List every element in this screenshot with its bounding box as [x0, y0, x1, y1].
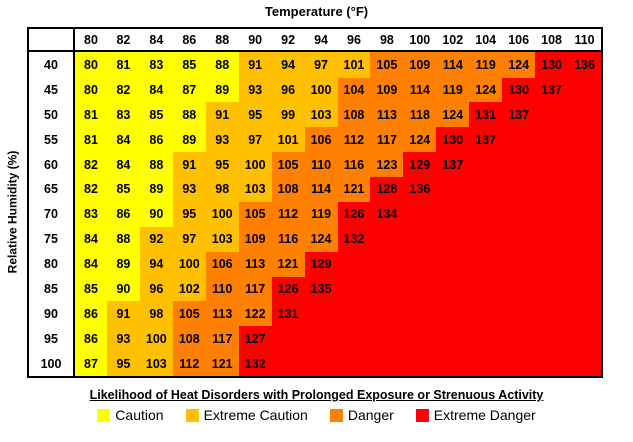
- heat-index-cell: 93: [206, 127, 239, 152]
- heat-index-cell: 119: [469, 51, 502, 78]
- legend: Likelihood of Heat Disorders with Prolon…: [0, 388, 633, 423]
- heat-index-cell: 103: [305, 102, 338, 127]
- heat-index-cell: [568, 102, 601, 127]
- heat-index-cell: 93: [107, 326, 140, 351]
- heat-index-cell: 97: [173, 227, 206, 252]
- column-header-temp-98: 98: [370, 29, 403, 51]
- heat-index-cell: 105: [173, 301, 206, 326]
- heat-index-cell: 116: [338, 152, 371, 177]
- column-header-temp-92: 92: [272, 29, 305, 51]
- heat-index-cell: [469, 326, 502, 351]
- heat-index-cell: 102: [173, 277, 206, 302]
- heat-index-cell: 96: [272, 78, 305, 103]
- heat-index-cell: 86: [107, 202, 140, 227]
- heat-index-cell: 106: [305, 127, 338, 152]
- heat-index-cell: 91: [107, 301, 140, 326]
- column-header-temp-106: 106: [502, 29, 535, 51]
- heat-index-cell: [535, 252, 568, 277]
- heat-index-cell: [436, 252, 469, 277]
- heat-index-cell: 110: [206, 277, 239, 302]
- heat-index-cell: [568, 202, 601, 227]
- heat-index-cell: 81: [74, 102, 107, 127]
- heat-index-cell: [403, 301, 436, 326]
- column-header-temp-94: 94: [305, 29, 338, 51]
- heat-index-cell: 113: [370, 102, 403, 127]
- table-row: 1008795103112121132: [29, 351, 601, 376]
- heat-index-cell: 117: [370, 127, 403, 152]
- heat-index-cell: 136: [403, 177, 436, 202]
- heat-index-cell: 123: [370, 152, 403, 177]
- table-row: 7083869095100105112119126134: [29, 202, 601, 227]
- heat-index-cell: [502, 351, 535, 376]
- heat-index-cell: 124: [502, 51, 535, 78]
- heat-index-cell: 86: [74, 301, 107, 326]
- heat-index-cell: 100: [239, 152, 272, 177]
- heat-index-cell: 99: [272, 102, 305, 127]
- heat-index-cell: 94: [140, 252, 173, 277]
- heat-index-cell: [436, 277, 469, 302]
- heat-index-cell: 130: [535, 51, 568, 78]
- heat-index-cell: 86: [140, 127, 173, 152]
- heat-index-cell: [469, 301, 502, 326]
- table-row: 4080818385889194971011051091141191241301…: [29, 51, 601, 78]
- heat-index-cell: 130: [436, 127, 469, 152]
- row-header-humidity-60: 60: [29, 152, 74, 177]
- heat-index-cell: [568, 177, 601, 202]
- heat-index-cell: [535, 227, 568, 252]
- heat-index-cell: 80: [74, 51, 107, 78]
- heat-index-cell: [370, 326, 403, 351]
- row-header-humidity-55: 55: [29, 127, 74, 152]
- heat-index-cell: 82: [74, 177, 107, 202]
- heat-index-cell: [502, 252, 535, 277]
- heat-index-cell: [568, 78, 601, 103]
- heat-index-cell: [469, 152, 502, 177]
- legend-item-extreme-caution: Extreme Caution: [186, 407, 308, 423]
- heat-index-cell: 87: [173, 78, 206, 103]
- heat-index-cell: 80: [74, 78, 107, 103]
- legend-swatch-danger-icon: [330, 409, 343, 422]
- heat-index-cell: 89: [206, 78, 239, 103]
- row-header-humidity-100: 100: [29, 351, 74, 376]
- heat-index-cell: 98: [206, 177, 239, 202]
- heat-index-cell: [338, 326, 371, 351]
- heat-index-cell: 93: [239, 78, 272, 103]
- legend-swatch-caution-icon: [97, 409, 110, 422]
- heat-index-cell: [568, 277, 601, 302]
- heat-index-cell: 108: [338, 102, 371, 127]
- table-body: 4080818385889194971011051091141191241301…: [29, 51, 601, 376]
- heat-index-cell: [436, 326, 469, 351]
- heat-index-cell: 91: [173, 152, 206, 177]
- heat-index-cell: [436, 227, 469, 252]
- heat-index-cell: 84: [74, 227, 107, 252]
- heat-index-cell: [535, 102, 568, 127]
- y-axis-label-text: Relative Humidity (%): [5, 151, 19, 274]
- row-header-humidity-85: 85: [29, 277, 74, 302]
- heat-index-cell: 119: [305, 202, 338, 227]
- column-header-temp-82: 82: [107, 29, 140, 51]
- heat-index-cell: 87: [74, 351, 107, 376]
- heat-index-cell: 91: [239, 51, 272, 78]
- heat-index-cell: 124: [436, 102, 469, 127]
- heat-index-cell: [272, 351, 305, 376]
- heat-index-cell: 81: [107, 51, 140, 78]
- heat-index-table: 80828486889092949698100102104106108110 4…: [27, 27, 603, 378]
- heat-index-cell: 124: [469, 78, 502, 103]
- heat-index-cell: 97: [239, 127, 272, 152]
- heat-index-cell: 135: [305, 277, 338, 302]
- heat-index-cell: 98: [140, 301, 173, 326]
- heat-index-cell: [370, 301, 403, 326]
- heat-index-cell: [338, 351, 371, 376]
- heat-index-cell: 136: [568, 51, 601, 78]
- heat-index-cell: 121: [272, 252, 305, 277]
- heat-index-cell: 83: [74, 202, 107, 227]
- legend-label: Caution: [115, 407, 163, 423]
- heat-index-cell: 109: [370, 78, 403, 103]
- table-row: 90869198105113122131: [29, 301, 601, 326]
- heat-index-cell: [535, 127, 568, 152]
- heat-index-cell: 101: [272, 127, 305, 152]
- heat-index-cell: [469, 227, 502, 252]
- heat-index-cell: 100: [206, 202, 239, 227]
- y-axis-label: Relative Humidity (%): [0, 46, 24, 378]
- heat-index-cell: 114: [403, 78, 436, 103]
- heat-index-cell: [469, 252, 502, 277]
- heat-index-cell: [370, 351, 403, 376]
- heat-index-cell: [469, 177, 502, 202]
- column-header-temp-84: 84: [140, 29, 173, 51]
- heat-index-cell: 101: [338, 51, 371, 78]
- chart-title: Temperature (°F): [0, 4, 633, 19]
- table-row: 658285899398103108114121128136: [29, 177, 601, 202]
- heat-index-cell: [272, 326, 305, 351]
- heat-index-cell: 114: [305, 177, 338, 202]
- heat-index-cell: 91: [206, 102, 239, 127]
- heat-index-cell: [338, 301, 371, 326]
- heat-index-cell: 132: [338, 227, 371, 252]
- heat-index-cell: [535, 351, 568, 376]
- heat-index-cell: [403, 351, 436, 376]
- heat-index-cell: 88: [140, 152, 173, 177]
- legend-title: Likelihood of Heat Disorders with Prolon…: [0, 388, 633, 402]
- row-header-humidity-50: 50: [29, 102, 74, 127]
- heat-index-cell: [568, 326, 601, 351]
- heat-index-cell: [568, 301, 601, 326]
- legend-swatch-extreme-danger-icon: [416, 409, 429, 422]
- heat-index-cell: 131: [469, 102, 502, 127]
- heat-index-cell: 127: [239, 326, 272, 351]
- heat-index-cell: [305, 301, 338, 326]
- row-header-humidity-65: 65: [29, 177, 74, 202]
- heat-index-cell: 83: [140, 51, 173, 78]
- table-row: 608284889195100105110116123129137: [29, 152, 601, 177]
- heat-index-cell: 105: [272, 152, 305, 177]
- heat-index-cell: [502, 301, 535, 326]
- heat-index-cell: 137: [502, 102, 535, 127]
- heat-index-cell: 95: [239, 102, 272, 127]
- column-header-temp-100: 100: [403, 29, 436, 51]
- heat-index-cell: 85: [173, 51, 206, 78]
- heat-index-cell: 112: [338, 127, 371, 152]
- heat-index-cell: 105: [239, 202, 272, 227]
- heat-index-cell: 118: [403, 102, 436, 127]
- heat-index-cell: [535, 152, 568, 177]
- column-header-temp-88: 88: [206, 29, 239, 51]
- heat-index-cell: [338, 252, 371, 277]
- heat-index-cell: [436, 351, 469, 376]
- row-header-humidity-75: 75: [29, 227, 74, 252]
- heat-index-cell: 109: [239, 227, 272, 252]
- heat-index-cell: 84: [107, 127, 140, 152]
- heat-index-cell: [305, 326, 338, 351]
- heat-index-cell: [403, 326, 436, 351]
- heat-index-cell: 113: [206, 301, 239, 326]
- heat-index-cell: 117: [206, 326, 239, 351]
- heat-index-cell: 112: [272, 202, 305, 227]
- column-header-temp-102: 102: [436, 29, 469, 51]
- heat-index-cell: 86: [74, 326, 107, 351]
- heat-index-cell: 85: [107, 177, 140, 202]
- heat-index-cell: 137: [436, 152, 469, 177]
- heat-index-grid: 80828486889092949698100102104106108110 4…: [29, 29, 601, 376]
- heat-index-cell: 103: [239, 177, 272, 202]
- heat-index-cell: 117: [239, 277, 272, 302]
- legend-swatch-extreme-caution-icon: [186, 409, 199, 422]
- heat-index-cell: 95: [107, 351, 140, 376]
- heat-index-cell: 89: [140, 177, 173, 202]
- heat-index-cell: 106: [206, 252, 239, 277]
- heat-index-cell: 95: [206, 152, 239, 177]
- heat-index-cell: [502, 277, 535, 302]
- heat-index-cell: 113: [239, 252, 272, 277]
- column-header-temp-104: 104: [469, 29, 502, 51]
- heat-index-cell: 129: [305, 252, 338, 277]
- legend-item-danger: Danger: [330, 407, 394, 423]
- heat-index-cell: [502, 152, 535, 177]
- legend-label: Extreme Caution: [204, 407, 308, 423]
- heat-index-cell: [568, 252, 601, 277]
- heat-index-cell: [370, 227, 403, 252]
- heat-index-cell: 85: [140, 102, 173, 127]
- heat-index-cell: [502, 326, 535, 351]
- heat-index-cell: 119: [436, 78, 469, 103]
- legend-label: Extreme Danger: [434, 407, 536, 423]
- heat-index-cell: 109: [403, 51, 436, 78]
- heat-index-cell: [535, 202, 568, 227]
- heat-index-cell: 126: [338, 202, 371, 227]
- heat-index-cell: 83: [107, 102, 140, 127]
- heat-index-cell: 131: [272, 301, 305, 326]
- heat-index-cell: [568, 127, 601, 152]
- heat-index-cell: [469, 277, 502, 302]
- heat-index-cell: [568, 227, 601, 252]
- heat-index-cell: 89: [107, 252, 140, 277]
- heat-index-cell: [370, 252, 403, 277]
- heat-index-cell: [502, 202, 535, 227]
- row-header-humidity-40: 40: [29, 51, 74, 78]
- heat-index-cell: [338, 277, 371, 302]
- heat-index-cell: [535, 177, 568, 202]
- heat-index-cell: [305, 351, 338, 376]
- heat-index-cell: 100: [173, 252, 206, 277]
- heat-index-cell: 84: [107, 152, 140, 177]
- heat-index-cell: 137: [469, 127, 502, 152]
- heat-index-cell: 137: [535, 78, 568, 103]
- heat-index-cell: [502, 127, 535, 152]
- row-header-humidity-90: 90: [29, 301, 74, 326]
- heat-index-cell: [469, 351, 502, 376]
- heat-index-cell: [403, 227, 436, 252]
- heat-index-cell: 92: [140, 227, 173, 252]
- heat-index-cell: 103: [206, 227, 239, 252]
- heat-index-cell: 121: [338, 177, 371, 202]
- heat-index-cell: 124: [305, 227, 338, 252]
- heat-index-cell: [436, 177, 469, 202]
- table-corner-cell: [29, 29, 74, 51]
- heat-index-cell: 84: [140, 78, 173, 103]
- heat-index-cell: 114: [436, 51, 469, 78]
- legend-items: CautionExtreme CautionDangerExtreme Dang…: [0, 407, 633, 423]
- heat-index-cell: 110: [305, 152, 338, 177]
- table-row: 5081838588919599103108113118124131137: [29, 102, 601, 127]
- heat-index-cell: 103: [140, 351, 173, 376]
- row-header-humidity-80: 80: [29, 252, 74, 277]
- column-header-row: 80828486889092949698100102104106108110: [29, 29, 601, 51]
- column-header-temp-90: 90: [239, 29, 272, 51]
- heat-index-cell: 124: [403, 127, 436, 152]
- table-row: 85859096102110117126135: [29, 277, 601, 302]
- heat-index-cell: 94: [272, 51, 305, 78]
- heat-index-cell: [535, 301, 568, 326]
- heat-index-cell: 90: [107, 277, 140, 302]
- table-row: 7584889297103109116124132: [29, 227, 601, 252]
- heat-index-cell: 88: [107, 227, 140, 252]
- heat-index-cell: [568, 152, 601, 177]
- row-header-humidity-45: 45: [29, 78, 74, 103]
- table-row: 80848994100106113121129: [29, 252, 601, 277]
- heat-index-cell: 84: [74, 252, 107, 277]
- heat-index-cell: [436, 202, 469, 227]
- heat-index-cell: 85: [74, 277, 107, 302]
- heat-index-cell: [469, 202, 502, 227]
- heat-index-cell: [403, 202, 436, 227]
- heat-index-cell: 88: [173, 102, 206, 127]
- heat-index-cell: 126: [272, 277, 305, 302]
- heat-index-cell: 128: [370, 177, 403, 202]
- heat-index-cell: 93: [173, 177, 206, 202]
- heat-index-cell: [403, 277, 436, 302]
- heat-index-cell: 134: [370, 202, 403, 227]
- heat-index-cell: 82: [74, 152, 107, 177]
- heat-index-cell: 81: [74, 127, 107, 152]
- heat-index-cell: 132: [239, 351, 272, 376]
- column-header-temp-80: 80: [74, 29, 107, 51]
- heat-index-cell: 88: [206, 51, 239, 78]
- heat-index-cell: 105: [370, 51, 403, 78]
- heat-index-cell: [436, 301, 469, 326]
- heat-index-cell: 104: [338, 78, 371, 103]
- column-header-temp-96: 96: [338, 29, 371, 51]
- column-header-temp-110: 110: [568, 29, 601, 51]
- heat-index-cell: [535, 277, 568, 302]
- heat-index-cell: [502, 227, 535, 252]
- heat-index-cell: 122: [239, 301, 272, 326]
- column-header-temp-86: 86: [173, 29, 206, 51]
- column-header-temp-108: 108: [535, 29, 568, 51]
- legend-label: Danger: [348, 407, 394, 423]
- row-header-humidity-95: 95: [29, 326, 74, 351]
- heat-index-cell: 108: [173, 326, 206, 351]
- table-row: 55818486899397101106112117124130137: [29, 127, 601, 152]
- heat-index-cell: 100: [140, 326, 173, 351]
- heat-index-cell: [568, 351, 601, 376]
- heat-index-cell: 97: [305, 51, 338, 78]
- heat-index-cell: 108: [272, 177, 305, 202]
- legend-item-caution: Caution: [97, 407, 163, 423]
- heat-index-cell: [403, 252, 436, 277]
- heat-index-cell: 130: [502, 78, 535, 103]
- heat-index-cell: 129: [403, 152, 436, 177]
- heat-index-cell: [502, 177, 535, 202]
- heat-index-cell: [535, 326, 568, 351]
- heat-index-cell: 100: [305, 78, 338, 103]
- heat-index-cell: 116: [272, 227, 305, 252]
- heat-index-cell: 89: [173, 127, 206, 152]
- heat-index-cell: [370, 277, 403, 302]
- heat-index-cell: 96: [140, 277, 173, 302]
- table-row: 4580828487899396100104109114119124130137: [29, 78, 601, 103]
- table-row: 958693100108117127: [29, 326, 601, 351]
- heat-index-cell: 121: [206, 351, 239, 376]
- row-header-humidity-70: 70: [29, 202, 74, 227]
- legend-item-extreme-danger: Extreme Danger: [416, 407, 536, 423]
- heat-index-cell: 112: [173, 351, 206, 376]
- heat-index-cell: 90: [140, 202, 173, 227]
- heat-index-cell: 95: [173, 202, 206, 227]
- table-head: 80828486889092949698100102104106108110: [29, 29, 601, 51]
- heat-index-cell: 82: [107, 78, 140, 103]
